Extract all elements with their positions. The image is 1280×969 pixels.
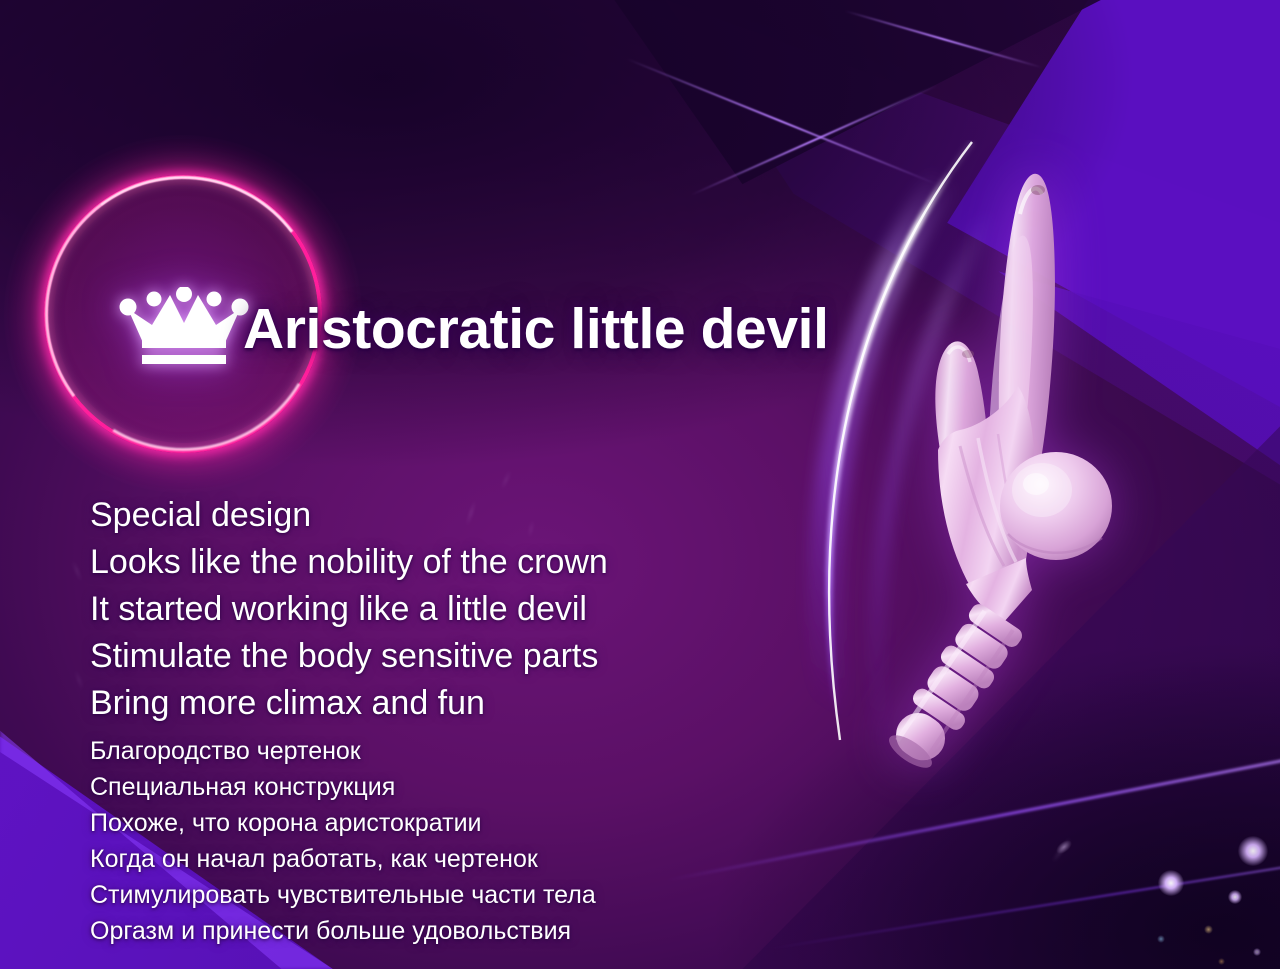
- sparkle-dot: [1218, 958, 1225, 965]
- crown-icon: [118, 287, 250, 369]
- feature-line: Bring more climax and fun: [90, 680, 608, 727]
- product-image: [820, 150, 1220, 790]
- feature-line-ru: Оргазм и принести больше удовольствия: [90, 913, 596, 949]
- feature-line: Looks like the nobility of the crown: [90, 539, 608, 586]
- sparkle-dot: [1238, 836, 1268, 866]
- features-list-english: Special design Looks like the nobility o…: [90, 492, 608, 727]
- sparkle-dot: [1157, 935, 1165, 943]
- sparkle-dot: [1204, 925, 1213, 934]
- product-promo-banner: Aristocratic little devil Special design…: [0, 0, 1280, 969]
- feature-line-ru: Когда он начал работать, как чертенок: [90, 841, 596, 877]
- feature-line: It started working like a little devil: [90, 586, 608, 633]
- feature-line-ru: Специальная конструкция: [90, 769, 596, 805]
- feature-line-ru: Благородство чертенок: [90, 733, 596, 769]
- sparkle-dot: [1253, 948, 1261, 956]
- feature-line: Special design: [90, 492, 608, 539]
- feature-line-ru: Похоже, что корона аристократии: [90, 805, 596, 841]
- feature-line: Stimulate the body sensitive parts: [90, 633, 608, 680]
- page-title: Aristocratic little devil: [243, 296, 829, 362]
- feature-line-ru: Стимулировать чувствительные части тела: [90, 877, 596, 913]
- sparkle-dot: [1158, 870, 1184, 896]
- sparkle-dot: [1228, 890, 1242, 904]
- features-list-russian: Благородство чертенок Специальная констр…: [90, 733, 596, 949]
